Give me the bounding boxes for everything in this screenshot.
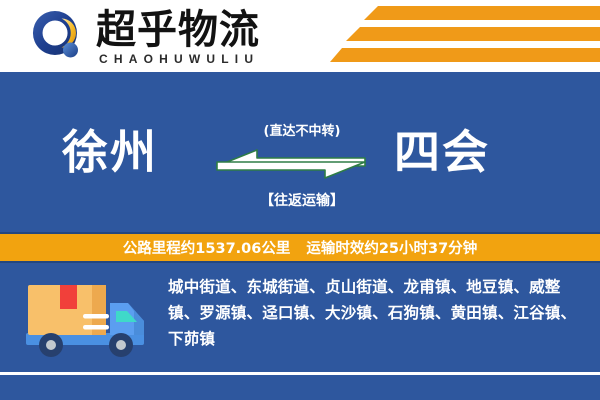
- delivery-areas-list: 城中街道、东城街道、贞山街道、龙甫镇、地豆镇、威整镇、罗源镇、迳口镇、大沙镇、石…: [168, 274, 586, 352]
- route-info-bar: 公路里程约1537.06公里 运输时效约25小时37分钟: [0, 232, 600, 263]
- destination-city: 四会: [394, 126, 490, 178]
- bidirectional-arrow-icon: [215, 145, 367, 183]
- logistics-route-banner: 超乎物流 CHAOHUWULIU 徐州 四会 (直达不中转) 【往返运输】 公路…: [0, 0, 600, 400]
- direct-shipping-note: (直达不中转): [244, 120, 360, 139]
- bottom-divider: [0, 372, 600, 375]
- delivery-truck-icon: [26, 281, 150, 363]
- origin-city: 徐州: [62, 126, 158, 178]
- q-crescent-logo-icon: [31, 9, 85, 63]
- orange-speed-stripes-icon: [330, 6, 600, 66]
- duration-text: 运输时效约25小时37分钟: [306, 237, 477, 258]
- banner-header: 超乎物流 CHAOHUWULIU: [0, 0, 600, 72]
- brand-name-en: CHAOHUWULIU: [99, 52, 259, 66]
- brand-name-cn: 超乎物流: [96, 8, 260, 52]
- round-trip-note: 【往返运输】: [238, 190, 366, 210]
- distance-text: 公路里程约1537.06公里: [123, 237, 291, 258]
